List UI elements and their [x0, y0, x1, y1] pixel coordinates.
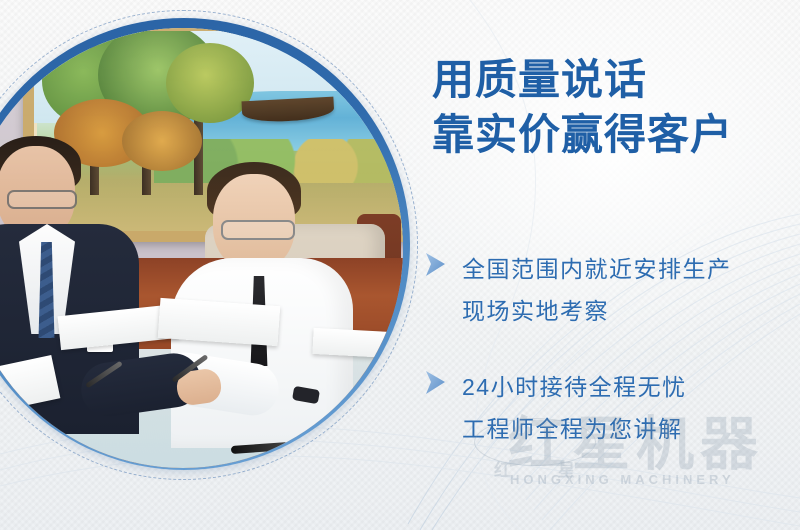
- feature-item: 全国范围内就近安排生产 现场实地考察: [424, 248, 796, 332]
- headline-line-1: 用质量说话: [432, 52, 733, 107]
- feature-line-1: 24小时接待全程无忧: [462, 366, 687, 408]
- feature-list: 全国范围内就近安排生产 现场实地考察 24小时接待全程无忧 工程师全程为您讲解: [424, 248, 796, 484]
- arrow-right-icon: [424, 370, 448, 396]
- photo-ring-border: [0, 18, 410, 470]
- eyeglasses: [221, 220, 295, 240]
- headline-line-2: 靠实价赢得客户: [432, 107, 733, 162]
- office-signing-scene: [0, 28, 403, 468]
- document-paper: [158, 298, 280, 346]
- painting-foliage: [166, 43, 254, 123]
- feature-text: 24小时接待全程无忧 工程师全程为您讲解: [462, 366, 687, 450]
- painting-foliage: [122, 111, 202, 171]
- feature-item: 24小时接待全程无忧 工程师全程为您讲解: [424, 366, 796, 450]
- feature-line-1: 全国范围内就近安排生产: [462, 248, 732, 290]
- eyeglasses: [7, 190, 77, 209]
- photo-medallion: [0, 18, 410, 470]
- arrow-right-icon: [424, 252, 448, 278]
- feature-line-2: 现场实地考察: [462, 290, 732, 332]
- document-paper: [312, 328, 393, 358]
- photo-image: [0, 28, 403, 468]
- feature-line-2: 工程师全程为您讲解: [462, 408, 687, 450]
- feature-text: 全国范围内就近安排生产 现场实地考察: [462, 248, 732, 332]
- headline: 用质量说话 靠实价赢得客户: [432, 52, 733, 162]
- promo-banner: 用质量说话 靠实价赢得客户 全国范围内就近安排生产 现场实地考察: [0, 0, 800, 530]
